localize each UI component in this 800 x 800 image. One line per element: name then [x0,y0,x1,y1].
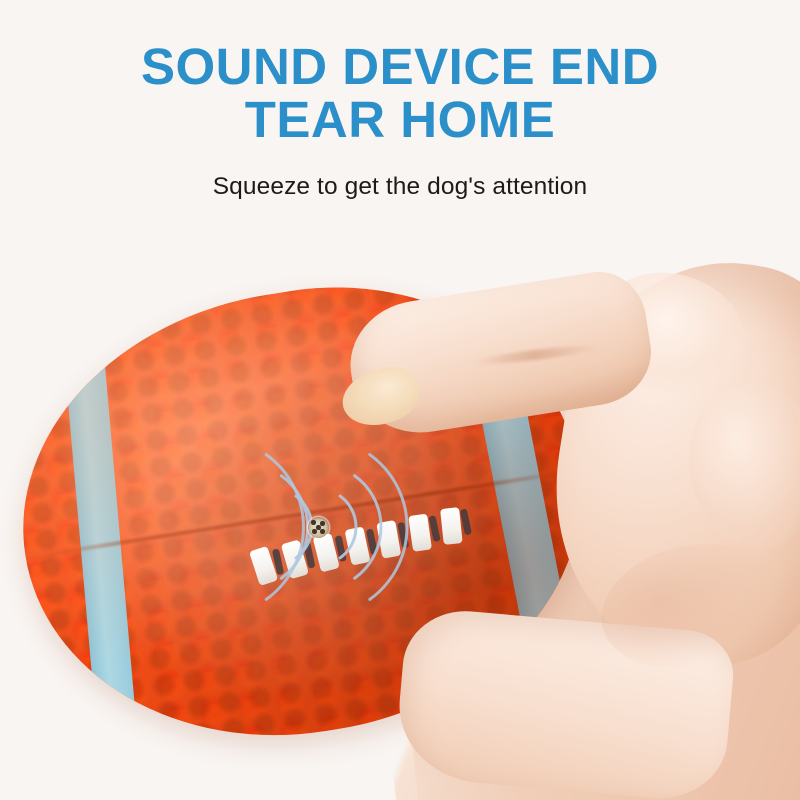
speaker-hole [320,529,325,534]
product-image-canvas: SOUND DEVICE END TEAR HOME Squeeze to ge… [0,0,800,800]
speaker-hole [311,520,316,525]
headline-line-1: SOUND DEVICE END [141,38,659,95]
page-headline: SOUND DEVICE END TEAR HOME [0,0,800,146]
squeaker-vent-icon [308,517,329,538]
page-subtitle: Squeeze to get the dog's attention [0,146,800,202]
headline-line-2: TEAR HOME [0,93,800,146]
text-block: SOUND DEVICE END TEAR HOME Squeeze to ge… [0,0,800,202]
lace-segment [440,507,463,545]
speaker-hole [312,529,317,534]
product-photo [0,230,800,800]
speaker-hole [316,525,321,530]
speaker-hole [320,521,325,526]
